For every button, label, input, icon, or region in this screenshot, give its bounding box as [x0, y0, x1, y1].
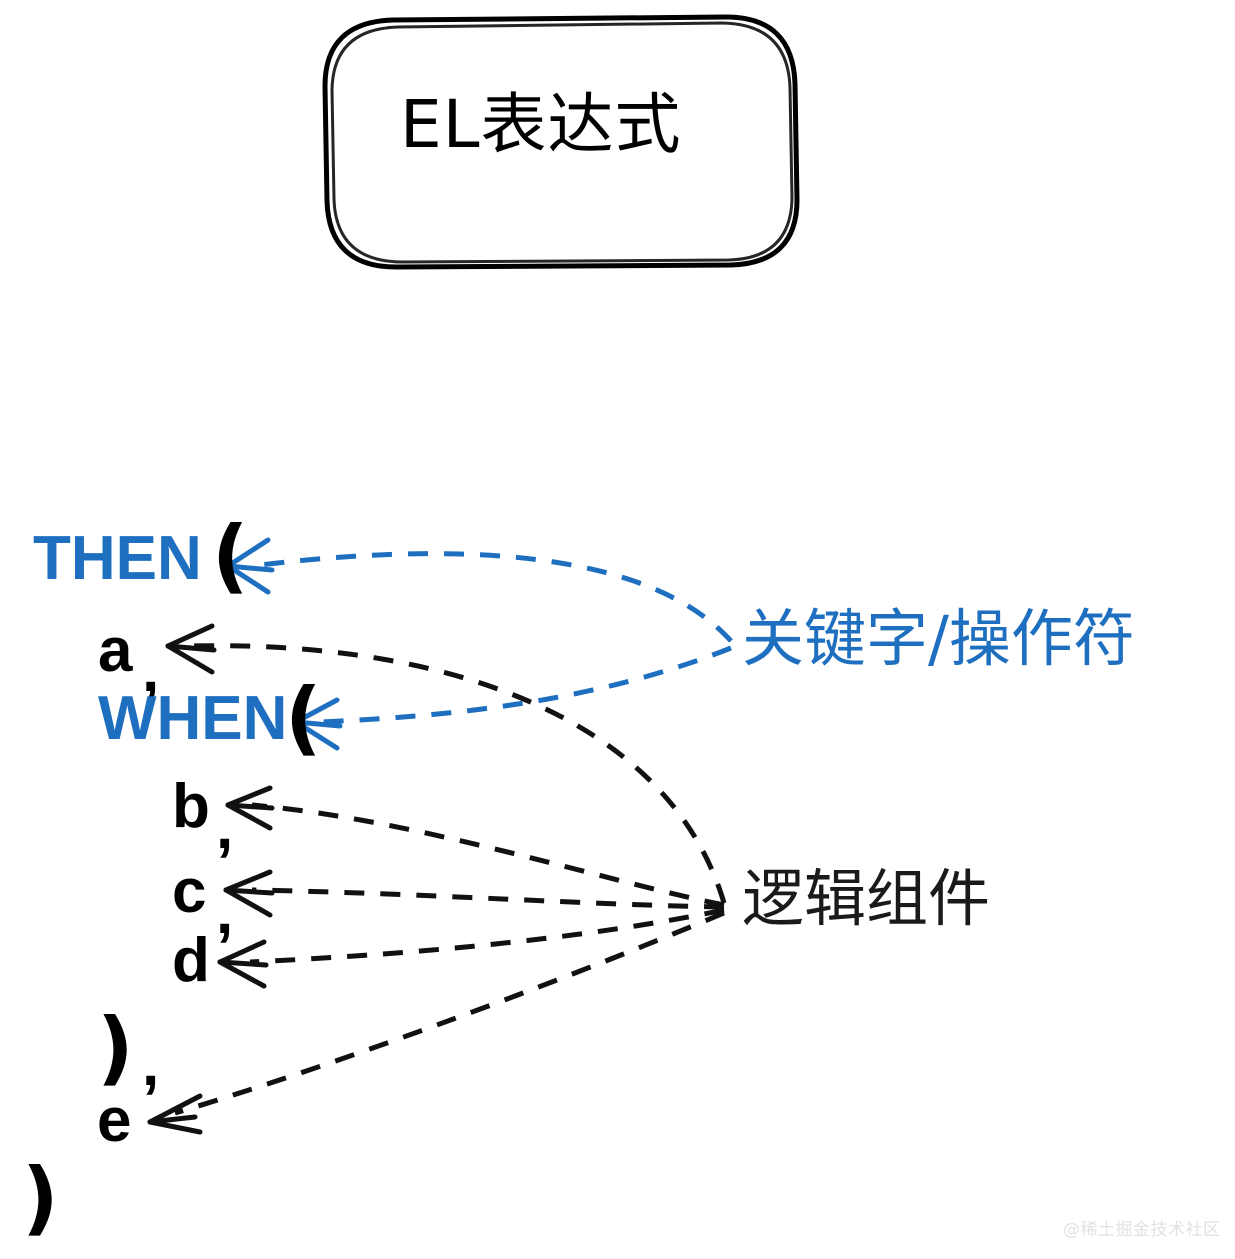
code-line-c: c	[172, 861, 206, 923]
annotation-label-logic-component: 逻辑组件	[742, 868, 990, 930]
code-line-then: THEN	[33, 528, 202, 590]
title-box-label: EL表达式	[400, 92, 681, 158]
code-line-b: b	[172, 776, 210, 838]
code-line-when: WHEN	[98, 688, 287, 750]
component-arrowhead-e	[150, 1096, 200, 1132]
diagram-canvas: EL表达式 THEN ( a , WHEN ( b , c , d ) , e …	[0, 0, 1235, 1259]
annotation-label-keyword-operator: 关键字/操作符	[742, 608, 1135, 670]
code-comma-c: ,	[216, 882, 233, 944]
code-comma-after-close-inner: ,	[142, 1034, 159, 1096]
component-arrowhead-d	[220, 942, 266, 986]
code-line-e: e	[97, 1090, 131, 1152]
code-paren-open-then: (	[212, 516, 249, 596]
code-line-a: a	[98, 620, 132, 682]
component-arrowhead-a	[168, 626, 214, 672]
code-comma-b: ,	[216, 797, 233, 859]
code-paren-close-inner: )	[97, 1008, 134, 1088]
keyword-annotation-arrows	[252, 554, 731, 722]
code-line-d: d	[172, 930, 210, 992]
watermark: @稀土掘金技术社区	[1063, 1222, 1221, 1239]
component-arrowhead-b	[228, 788, 272, 828]
code-paren-open-when: (	[285, 678, 322, 758]
code-paren-close-outer: )	[22, 1158, 59, 1238]
